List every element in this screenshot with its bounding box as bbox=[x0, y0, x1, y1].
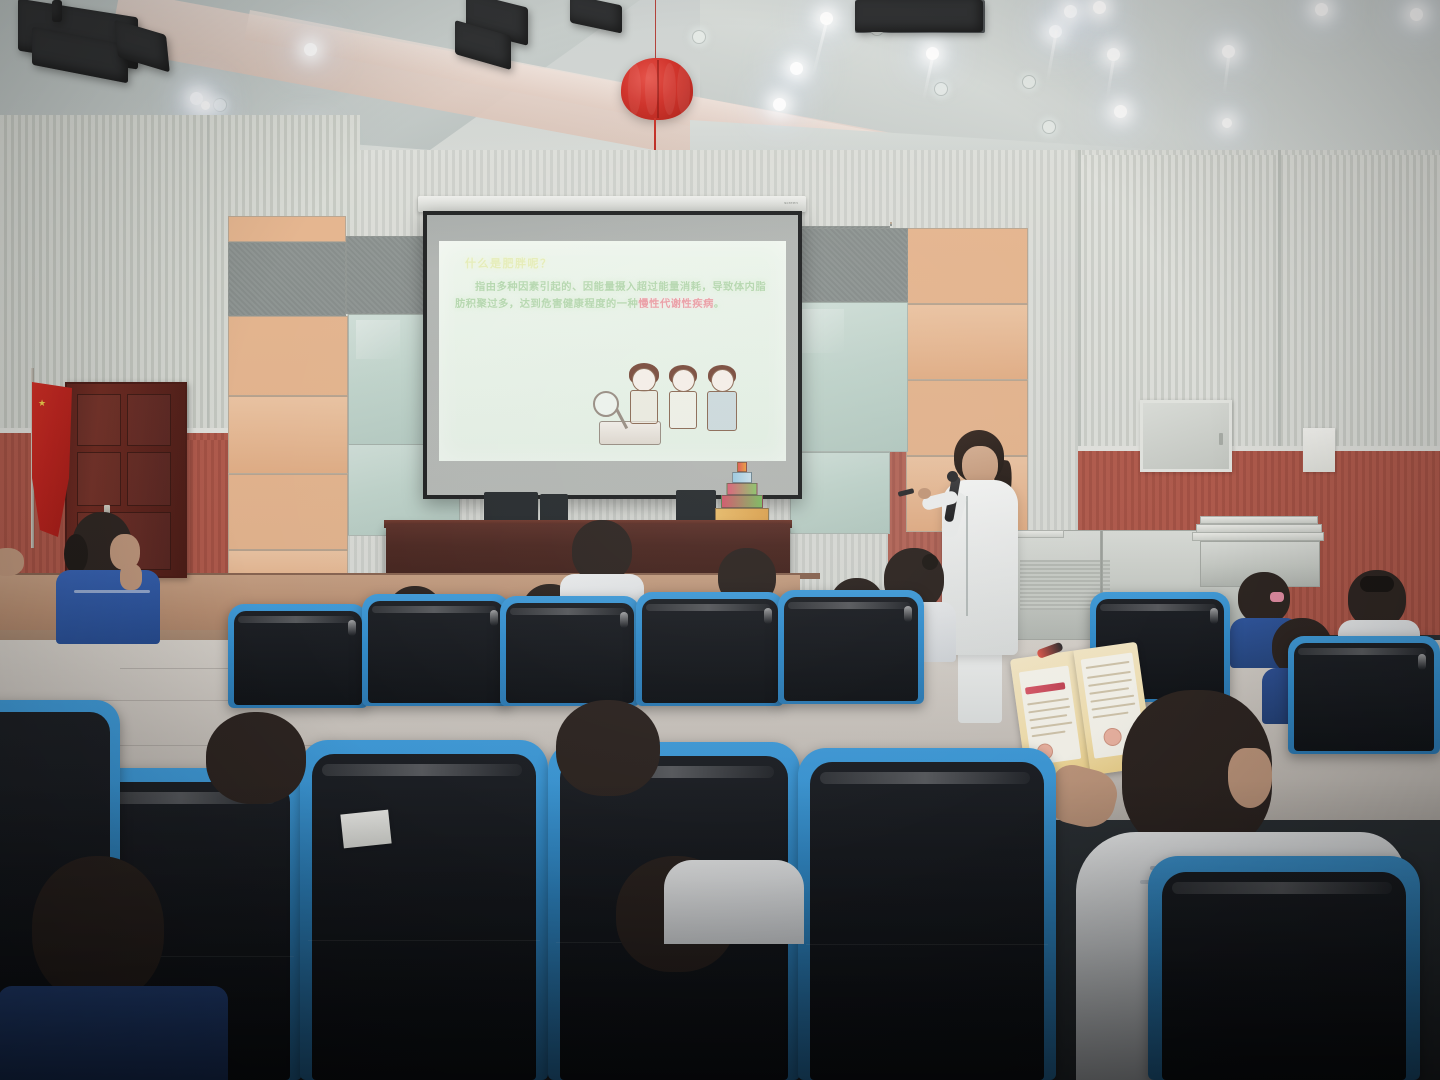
peach-decor-panel bbox=[906, 228, 1028, 304]
flag-star-icon: ★ bbox=[38, 398, 46, 409]
student-hair-clip bbox=[922, 554, 938, 570]
peach-decor-panel bbox=[228, 474, 348, 550]
slide-title: 什么是肥胖呢？ bbox=[465, 255, 553, 271]
downlight-icon bbox=[790, 62, 803, 75]
peach-decor-panel bbox=[906, 304, 1028, 380]
downlight-icon bbox=[201, 101, 210, 110]
wall-rib-panel-right bbox=[1080, 155, 1440, 455]
access-panel-latch[interactable] bbox=[1219, 433, 1223, 445]
peach-decor-panel bbox=[228, 316, 348, 396]
material-stack bbox=[1196, 524, 1322, 533]
student-hair-bun bbox=[64, 534, 88, 574]
student bbox=[538, 700, 698, 820]
mint-whiteboard-panel bbox=[790, 302, 908, 452]
projection-screen-surface: 什么是肥胖呢？ 指由多种因素引起的、因能量摄入超过能量消耗，导致体内脂肪积聚过多… bbox=[427, 215, 798, 495]
cartoon-kid bbox=[703, 365, 741, 433]
cartoon-kid bbox=[625, 363, 663, 425]
projection-screen: 什么是肥胖呢？ 指由多种因素引起的、因能量摄入超过能量消耗，导致体内脂肪积聚过多… bbox=[423, 211, 802, 499]
presenter-hand bbox=[918, 488, 931, 499]
slide-body-highlight: 慢性代谢性疾病 bbox=[638, 299, 714, 310]
downlight-icon bbox=[1093, 1, 1106, 14]
student-hand bbox=[120, 564, 142, 590]
downlight-icon bbox=[773, 98, 786, 111]
projection-screen-housing: screen bbox=[418, 196, 806, 212]
auditorium-photo: screen 什么是肥胖呢？ 指由多种因素引起的、因能量摄入超过能量消耗，导致体… bbox=[0, 0, 1440, 1080]
peach-decor-panel bbox=[228, 216, 346, 242]
auditorium-seat[interactable] bbox=[798, 748, 1056, 1080]
auditorium-seat[interactable] bbox=[500, 596, 640, 706]
acoustic-panel bbox=[228, 242, 346, 316]
student bbox=[0, 540, 50, 600]
wall-seam bbox=[207, 115, 209, 435]
slide-content: 什么是肥胖呢？ 指由多种因素引起的、因能量摄入超过能量消耗，导致体内脂肪积聚过多… bbox=[439, 241, 786, 461]
slide-illustration-kids bbox=[599, 353, 759, 445]
acoustic-panel bbox=[890, 224, 892, 226]
wall-seam bbox=[1278, 150, 1281, 450]
downlight-icon bbox=[304, 43, 317, 56]
auditorium-seat[interactable] bbox=[636, 592, 784, 706]
student-ear bbox=[1228, 748, 1272, 808]
screen-brand-label: screen bbox=[784, 200, 798, 205]
downlight-icon bbox=[1022, 75, 1036, 89]
magnifier-icon bbox=[593, 391, 619, 417]
cartoon-kid bbox=[665, 365, 701, 431]
student-hair-clip bbox=[1360, 576, 1394, 592]
student bbox=[190, 712, 340, 822]
wall-access-panel[interactable] bbox=[1140, 400, 1232, 472]
peach-decor-panel bbox=[890, 222, 892, 224]
slide-body: 指由多种因素引起的、因能量摄入超过能量消耗，导致体内脂肪积聚过多，达到危害健康程… bbox=[455, 279, 770, 313]
auditorium-seat[interactable] bbox=[362, 594, 510, 706]
material-stack bbox=[1192, 532, 1324, 541]
red-honeycomb-ball-decoration bbox=[621, 58, 693, 120]
auditorium-seat[interactable] bbox=[228, 604, 368, 708]
downlight-icon bbox=[1315, 3, 1328, 16]
presenter-legs bbox=[958, 645, 1002, 723]
wainscot-cap bbox=[1078, 446, 1440, 451]
slide-body-text-after: 。 bbox=[714, 299, 725, 310]
wall-notice-paper bbox=[1303, 428, 1335, 472]
hair-tie-icon bbox=[1270, 592, 1284, 602]
microphone-head bbox=[947, 471, 958, 482]
downlight-icon bbox=[1042, 120, 1056, 134]
downlight-icon bbox=[934, 82, 948, 96]
downlight-icon bbox=[1222, 118, 1232, 128]
student-arm bbox=[664, 860, 804, 950]
food-pyramid-model bbox=[712, 462, 772, 524]
downlight-icon bbox=[692, 30, 706, 44]
material-stack bbox=[1200, 516, 1318, 524]
downlight-icon bbox=[1064, 5, 1077, 18]
peach-decor-panel bbox=[228, 396, 348, 474]
student bbox=[48, 512, 168, 642]
decoration-wire bbox=[655, 0, 656, 64]
presenter-coat-seam bbox=[966, 496, 968, 616]
stage-light-fixture bbox=[855, 0, 983, 32]
acoustic-panel bbox=[790, 228, 908, 302]
handout-paper bbox=[340, 810, 391, 849]
downlight-icon bbox=[1114, 105, 1127, 118]
wall-seam bbox=[1078, 150, 1081, 450]
auditorium-seat[interactable] bbox=[778, 590, 924, 704]
student bbox=[18, 856, 208, 1080]
auditorium-seat[interactable] bbox=[1148, 856, 1420, 1080]
mint-whiteboard-panel bbox=[790, 452, 890, 534]
downlight-icon bbox=[213, 98, 227, 112]
stage-light-yoke bbox=[52, 0, 62, 22]
downlight-icon bbox=[1410, 8, 1423, 21]
